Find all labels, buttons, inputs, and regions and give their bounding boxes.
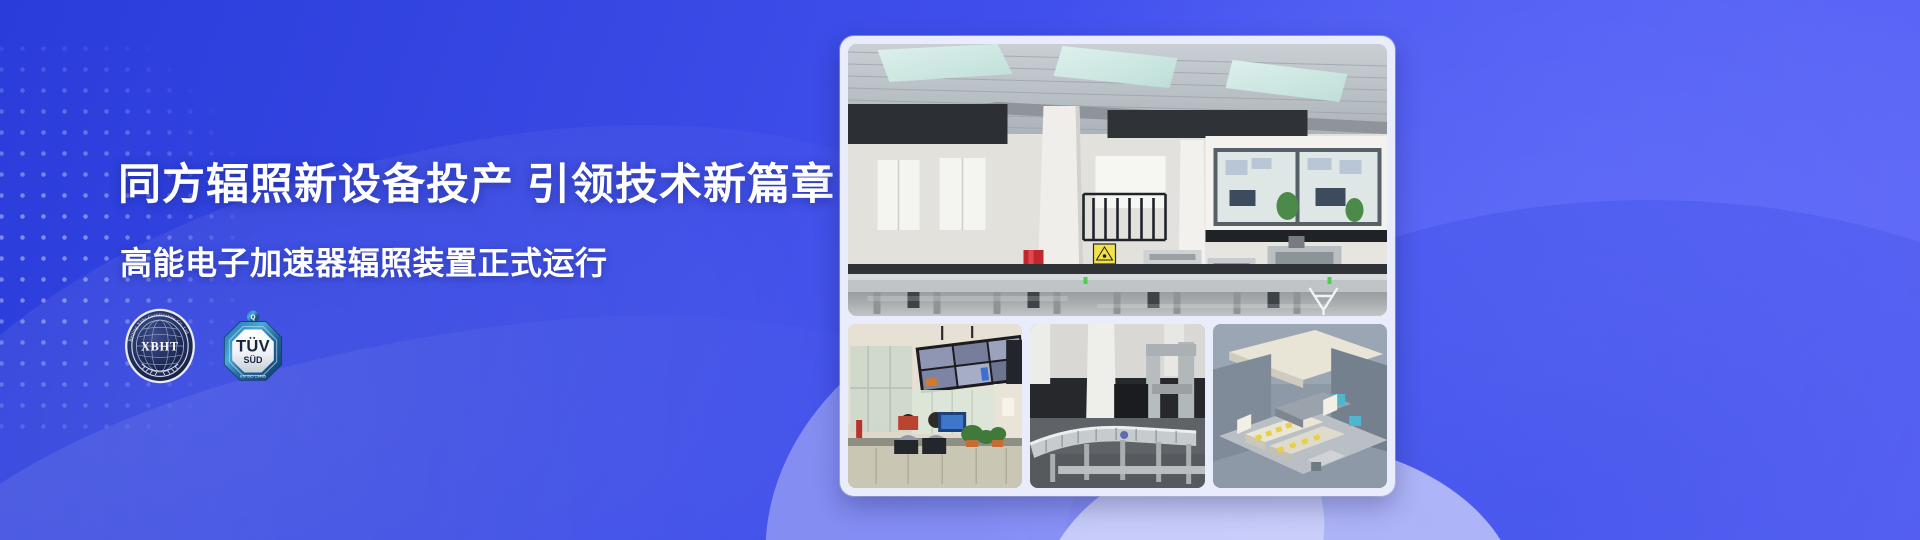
banner-headline: 同方辐照新设备投产 引领技术新篇章 bbox=[118, 150, 835, 212]
svg-text:Q: Q bbox=[250, 314, 255, 321]
conveyor-line-photo[interactable] bbox=[1030, 324, 1204, 488]
banner-subheadline: 高能电子加速器辐照装置正式运行 bbox=[120, 238, 608, 284]
svg-text:TÜV: TÜV bbox=[236, 337, 270, 356]
svg-text:EN ISO 13485: EN ISO 13485 bbox=[240, 374, 267, 379]
xbht-certification-logo-icon: Beijing Xbht Certification Co. Ltd XBHT bbox=[122, 308, 198, 384]
banner-copy: 同方辐照新设备投产 引领技术新篇章 高能电子加速器辐照装置正式运行 bbox=[118, 0, 878, 540]
tuv-sud-logo-icon: Q TÜV SÜD EN ISO 13485 bbox=[220, 310, 286, 382]
irradiation-facility-hall-photo bbox=[848, 44, 1387, 316]
svg-text:SÜD: SÜD bbox=[244, 355, 263, 365]
control-room-photo[interactable] bbox=[848, 324, 1022, 488]
facility-3d-render[interactable] bbox=[1213, 324, 1387, 488]
gallery-thumbnails bbox=[848, 324, 1387, 488]
svg-text:XBHT: XBHT bbox=[141, 340, 179, 354]
photo-gallery-card bbox=[840, 36, 1395, 496]
promo-banner: 同方辐照新设备投产 引领技术新篇章 高能电子加速器辐照装置正式运行 bbox=[0, 0, 1920, 540]
certification-logos: Beijing Xbht Certification Co. Ltd XBHT bbox=[122, 308, 286, 384]
